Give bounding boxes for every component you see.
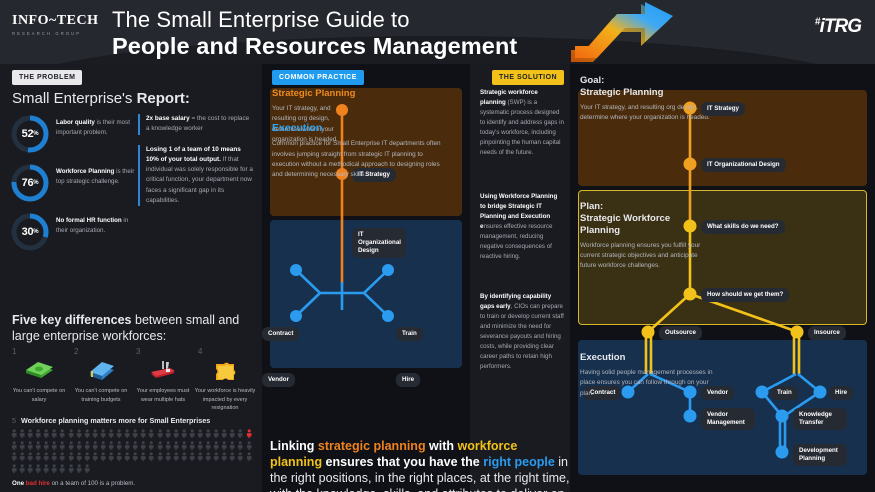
person-icon (196, 451, 204, 463)
person-icon (91, 451, 99, 463)
stat-row: 76%Workforce Planning is their top strat… (10, 163, 136, 203)
person-icon (59, 440, 67, 452)
difference-number: 2 (70, 348, 132, 356)
right-node-what-skills: What skills do we need? (701, 220, 785, 234)
right-plan-title-lead: Plan: (580, 201, 712, 213)
difference-number: 3 (132, 348, 194, 356)
person-icon (26, 440, 34, 452)
mid-execution-text: Execution Common practice for Small Ente… (272, 122, 444, 181)
person-icon (99, 451, 107, 463)
person-icon (10, 463, 18, 475)
person-icon (10, 440, 18, 452)
donut-chart: 30% (10, 212, 50, 252)
person-icon (67, 440, 75, 452)
person-icon (26, 451, 34, 463)
person-icon (237, 451, 245, 463)
person-icon (107, 440, 115, 452)
person-icon (50, 451, 58, 463)
person-icon (156, 440, 164, 452)
caption-100-rest: on a team of 100 is a problem. (50, 480, 135, 487)
person-icon (204, 451, 212, 463)
person-icon (18, 451, 26, 463)
difference-item: 4Your workforce is heavily impacted by e… (194, 348, 256, 413)
summary-segment: right people (483, 455, 555, 469)
person-icon (83, 440, 91, 452)
person-icon (59, 451, 67, 463)
logo-tagline: RESEARCH GROUP (12, 31, 104, 36)
person-icon (42, 428, 50, 440)
person-icon (34, 463, 42, 475)
person-icon (99, 428, 107, 440)
person-icon (83, 463, 91, 475)
summary-segment: with (426, 439, 458, 453)
page-title: The Small Enterprise Guide to People and… (112, 7, 517, 60)
person-icon (115, 451, 123, 463)
person-icon (156, 428, 164, 440)
money-stack-icon (8, 358, 70, 384)
person-icon (26, 428, 34, 440)
right-execution-title: Execution (580, 352, 720, 364)
person-icon (164, 440, 172, 452)
person-icon (140, 440, 148, 452)
person-icon (107, 428, 115, 440)
person-icon (50, 428, 58, 440)
report-heading: Small Enterprise's Report: (12, 90, 190, 107)
differences-row: 1You can't compete on salary2You can't c… (8, 348, 258, 413)
differences-heading: Five key differences between small and l… (12, 312, 252, 345)
right-execution-text: Execution Having solid people management… (580, 352, 720, 399)
mid-node-train: Train (396, 327, 423, 341)
person-icon (220, 440, 228, 452)
person-icon (237, 428, 245, 440)
common-practice-column: Goal: Strategic Planning Your IT strateg… (262, 64, 470, 492)
summary-segment: Linking (270, 439, 318, 453)
infographic-page: INFO~TECH RESEARCH GROUP The Small Enter… (0, 0, 875, 492)
donut-value: 30% (10, 212, 50, 252)
right-goal-title: Goal: Strategic Planning (580, 75, 712, 99)
difference-number: 4 (194, 348, 256, 356)
right-node-vendor-management: Vendor Management (701, 408, 755, 430)
mid-node-vendor: Vendor (262, 373, 295, 387)
person-icon (123, 428, 131, 440)
team-of-100-grid (10, 428, 254, 474)
person-icon (156, 451, 164, 463)
person-icon (67, 463, 75, 475)
person-icon (67, 451, 75, 463)
person-icon (18, 463, 26, 475)
right-node-knowledge-transfer: Knowledge Transfer (793, 408, 847, 430)
summary-segment: ensures that you have the (322, 455, 483, 469)
person-icon (115, 440, 123, 452)
person-icon (204, 440, 212, 452)
difference-label: Your employees must wear multiple hats (132, 387, 194, 404)
caption-100-bold: One (12, 480, 24, 487)
solution-text-column: Strategic workforce planning (SWP) is a … (470, 64, 570, 492)
report-heading-light: Small Enterprise's (12, 90, 137, 107)
donut-value: 76% (10, 163, 50, 203)
person-icon (188, 440, 196, 452)
difference-label: You can't compete on salary (8, 387, 70, 404)
person-icon (204, 428, 212, 440)
fifth-number: 5 (12, 416, 16, 425)
person-icon (229, 451, 237, 463)
summary-statement: Linking strategic planning with workforc… (270, 438, 570, 492)
mid-node-contract: Contract (262, 327, 299, 341)
right-plan-title-main: Strategic Workforce Planning (580, 213, 670, 236)
person-icon (42, 451, 50, 463)
right-goal-title-lead: Goal: (580, 75, 712, 87)
person-icon (59, 463, 67, 475)
caption-100-bad: bad hire (24, 480, 50, 487)
note-list: 2x base salary = the cost to replace a k… (138, 114, 254, 216)
solution-column: Goal: Strategic Planning Your IT strateg… (570, 64, 875, 492)
right-node-it-strategy: IT Strategy (701, 102, 745, 116)
fifth-difference: 5Workforce planning matters more for Sma… (12, 416, 210, 425)
title-line-2: People and Resources Management (112, 33, 517, 60)
person-icon (75, 428, 83, 440)
page-header: INFO~TECH RESEARCH GROUP The Small Enter… (0, 0, 875, 64)
solution-text-block: By identifying capability gaps early, CI… (480, 292, 564, 372)
right-goal-text: Goal: Strategic Planning Your IT strateg… (580, 75, 712, 124)
title-line-1: The Small Enterprise Guide to (112, 7, 517, 33)
right-node-insource: Insource (808, 326, 846, 340)
person-icon (18, 428, 26, 440)
person-icon (34, 440, 42, 452)
donut-chart: 52% (10, 114, 50, 154)
person-icon (42, 440, 50, 452)
mid-execution-body: Common practice for Small Enterprise IT … (272, 139, 444, 181)
difference-item: 1You can't compete on salary (8, 348, 70, 413)
person-icon (67, 428, 75, 440)
person-icon (91, 428, 99, 440)
person-icon (34, 428, 42, 440)
person-icon (34, 451, 42, 463)
person-icon (10, 451, 18, 463)
difference-item: 3Your employees must wear multiple hats (132, 348, 194, 413)
person-icon (180, 451, 188, 463)
stat-row: 30%No formal HR function in their organi… (10, 212, 136, 252)
fifth-label: Workforce planning matters more for Smal… (21, 416, 210, 425)
person-icon (131, 428, 139, 440)
person-icon (50, 440, 58, 452)
mid-execution-title: Execution (272, 122, 444, 135)
person-icon (180, 440, 188, 452)
right-plan-title: Plan: Strategic Workforce Planning (580, 201, 712, 237)
person-icon (196, 440, 204, 452)
difference-number: 1 (8, 348, 70, 356)
person-icon (115, 428, 123, 440)
person-icon (42, 463, 50, 475)
logo-wordmark: INFO~TECH (12, 14, 104, 28)
donut-chart: 76% (10, 163, 50, 203)
tag-common-practice: COMMON PRACTICE (272, 70, 364, 85)
tag-the-solution: THE SOLUTION (492, 70, 564, 85)
person-icon (148, 440, 156, 452)
person-icon (10, 428, 18, 440)
right-plan-body: Workforce planning ensures you fulfill y… (580, 241, 712, 272)
person-icon (188, 451, 196, 463)
person-icon (59, 428, 67, 440)
person-icon (83, 451, 91, 463)
person-icon (26, 463, 34, 475)
mid-node-it-org-design: IT Organizational Design (352, 228, 406, 258)
person-icon (245, 428, 253, 440)
mid-node-hire: Hire (396, 373, 420, 387)
person-icon (75, 440, 83, 452)
growth-arrow-icon (565, 2, 695, 64)
stat-list: 52%Labor quality is their most important… (10, 114, 136, 261)
itrg-brand-mark: #iTRG (815, 16, 861, 38)
differences-heading-bold: Five key differences (12, 313, 132, 327)
solution-text-block: Using Workforce Planning to bridge Strat… (480, 192, 564, 262)
puzzle-piece-icon (194, 358, 256, 384)
person-icon (164, 428, 172, 440)
note-item: Losing 1 of a team of 10 means 10% of yo… (138, 145, 254, 207)
mid-goal-title-main: Strategic Planning (272, 88, 355, 99)
summary-segment: strategic planning (318, 439, 426, 453)
stat-label: No formal HR function in their organizat… (50, 212, 136, 236)
person-icon (140, 451, 148, 463)
person-icon (75, 463, 83, 475)
person-icon (180, 428, 188, 440)
person-icon (245, 451, 253, 463)
stat-row: 52%Labor quality is their most important… (10, 114, 136, 154)
right-node-outsource: Outsource (659, 326, 702, 340)
right-goal-title-main: Strategic Planning (580, 87, 663, 98)
note-text: 2x base salary = the cost to replace a k… (146, 114, 254, 135)
person-icon (172, 451, 180, 463)
itrg-text: iTRG (820, 16, 861, 37)
person-icon (123, 451, 131, 463)
note-item: 2x base salary = the cost to replace a k… (138, 114, 254, 135)
right-node-train: Train (771, 386, 798, 400)
person-icon (172, 428, 180, 440)
person-icon (148, 451, 156, 463)
right-node-it-org-design: IT Organizational Design (701, 158, 786, 172)
stat-label: Labor quality is their most important pr… (50, 114, 136, 138)
person-icon (229, 428, 237, 440)
right-node-development-planning: Development Planning (793, 444, 847, 466)
stat-label: Workforce Planning is their top strategi… (50, 163, 136, 187)
person-icon (172, 440, 180, 452)
person-icon (75, 451, 83, 463)
person-icon (212, 451, 220, 463)
right-execution-body: Having solid people management processes… (580, 368, 720, 399)
swiss-army-knife-icon (132, 358, 194, 384)
person-icon (196, 428, 204, 440)
person-icon (123, 440, 131, 452)
person-icon (131, 440, 139, 452)
right-node-how-get-them: How should we get them? (701, 288, 789, 302)
person-icon (18, 440, 26, 452)
person-icon (107, 451, 115, 463)
right-goal-body: Your IT strategy, and resulting org desi… (580, 103, 712, 124)
note-text: Losing 1 of a team of 10 means 10% of yo… (146, 145, 254, 207)
right-plan-text: Plan: Strategic Workforce Planning Workf… (580, 201, 712, 272)
solution-text-block: Strategic workforce planning (SWP) is a … (480, 88, 564, 158)
person-icon (212, 440, 220, 452)
person-icon (212, 428, 220, 440)
person-icon (245, 440, 253, 452)
donut-value: 52% (10, 114, 50, 154)
person-icon (229, 440, 237, 452)
difference-label: You can't compete on training budgets (70, 387, 132, 404)
person-icon (131, 451, 139, 463)
person-icon (140, 428, 148, 440)
right-node-hire: Hire (829, 386, 853, 400)
person-icon (164, 451, 172, 463)
info-tech-logo: INFO~TECH RESEARCH GROUP (12, 14, 104, 36)
person-icon (188, 428, 196, 440)
person-icon (237, 440, 245, 452)
report-heading-bold: Report: (137, 90, 190, 107)
caption-team-100: One bad hire on a team of 100 is a probl… (12, 480, 135, 487)
person-icon (220, 428, 228, 440)
person-icon (148, 428, 156, 440)
person-icon (220, 451, 228, 463)
problem-column-content: Small Enterprise's Report: 52%Labor qual… (0, 64, 262, 492)
person-icon (50, 463, 58, 475)
difference-label: Your workforce is heavily impacted by ev… (194, 387, 256, 413)
book-icon (70, 358, 132, 384)
person-icon (99, 440, 107, 452)
difference-item: 2You can't compete on training budgets (70, 348, 132, 413)
person-icon (83, 428, 91, 440)
person-icon (91, 440, 99, 452)
